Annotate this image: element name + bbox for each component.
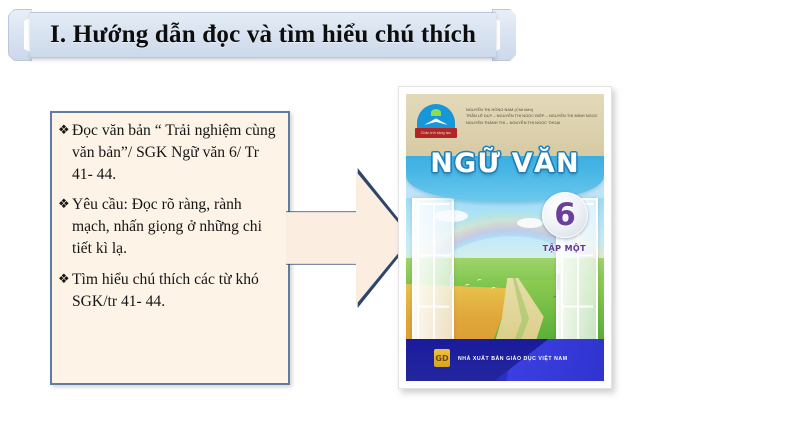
logo-dome [417,104,455,130]
diamond-bullet-icon: ❖ [58,120,72,140]
list-item: ❖ Tìm hiểu chú thích các từ khó SGK/tr 4… [58,269,280,313]
logo-ribbon: Chân trời sáng tạo [415,128,457,138]
instruction-text-box: ❖ Đọc văn bản “ Trải nghiệm cùng văn bản… [50,111,290,385]
book-cover-artwork: Chân trời sáng tạo NGUYỄN THỊ HỒNG NAM (… [406,94,604,381]
window-frame-left [412,198,454,362]
list-item: ❖ Đọc văn bản “ Trải nghiệm cùng văn bản… [58,120,280,185]
list-item-text: Tìm hiểu chú thích các từ khó SGK/tr 41-… [72,269,280,313]
author-line: NGUYỄN THÀNH THI – NGUYỄN THỊ NGỌC THOẠI [466,120,600,126]
list-item: ❖ Yêu cầu: Đọc rõ ràng, rành mạch, nhấn … [58,194,280,259]
grade-number-badge: 6 [542,192,588,238]
window-handle [450,274,453,290]
diamond-bullet-icon: ❖ [58,194,72,214]
list-item-text: Đọc văn bản “ Trải nghiệm cùng văn bản”/… [72,120,280,185]
arrow-fill [286,170,412,306]
logo-ribbon-text: Chân trời sáng tạo [421,131,451,135]
window-handle [557,274,560,290]
logo-sun [431,109,441,116]
author-line: TRẦN LÊ DUY – NGUYỄN THỊ NGỌC ĐIỆP – NGU… [466,113,600,119]
slide-title-banner: I. Hướng dẫn đọc và tìm hiểu chú thích [8,9,518,61]
list-item-text: Yêu cầu: Đọc rõ ràng, rành mạch, nhấn gi… [72,194,280,259]
chan-troi-sang-tao-logo-icon: Chân trời sáng tạo [415,104,457,146]
window-pane-grid [417,203,449,357]
cover-author-band: Chân trời sáng tạo NGUYỄN THỊ HỒNG NAM (… [406,94,604,156]
publisher-name: NHÀ XUẤT BẢN GIÁO DỤC VIỆT NAM [458,356,568,362]
right-arrow-icon [286,168,414,308]
cloud-decoration [517,218,543,228]
diamond-bullet-icon: ❖ [58,269,72,289]
volume-label: TẬP MỘT [543,244,586,253]
author-credits: NGUYỄN THỊ HỒNG NAM (Chủ biên) TRẦN LÊ D… [466,107,600,126]
book-title: NGỮ VĂN [406,148,604,179]
page-title: I. Hướng dẫn đọc và tìm hiểu chú thích [8,9,518,61]
grade-number: 6 [554,200,576,231]
textbook-cover-image: Chân trời sáng tạo NGUYỄN THỊ HỒNG NAM (… [398,86,612,389]
publisher-logo-icon: GD [434,349,450,367]
publisher-band: GD NHÀ XUẤT BẢN GIÁO DỤC VIỆT NAM [406,339,604,381]
